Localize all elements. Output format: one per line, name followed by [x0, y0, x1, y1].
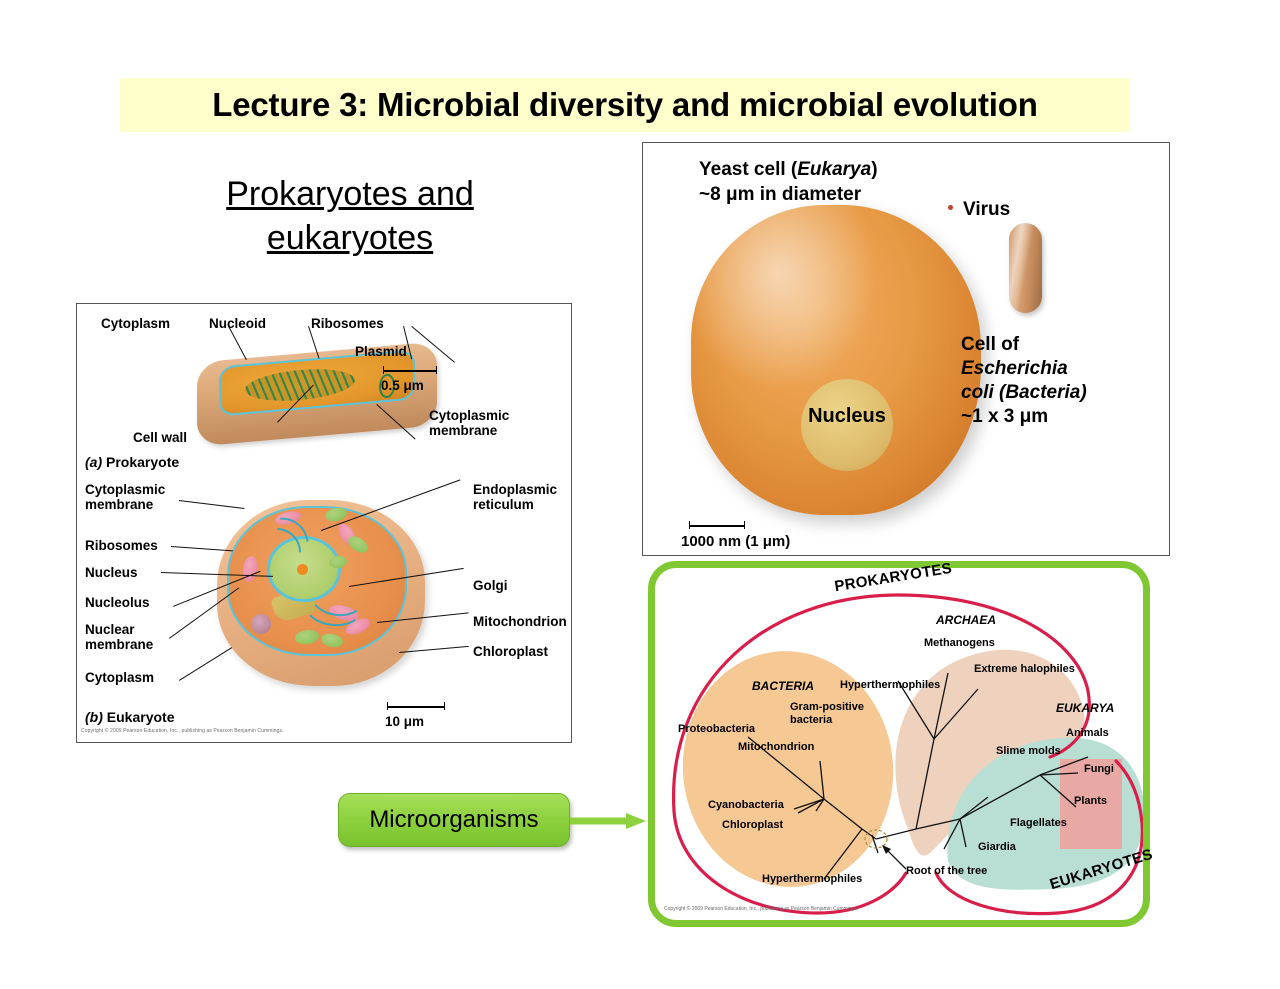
label-hyperthermophiles-archaea: Hyperthermophiles: [840, 679, 940, 692]
section-heading-line2: eukaryotes: [267, 219, 433, 257]
slide-title-banner: Lecture 3: Microbial diversity and micro…: [120, 78, 1130, 132]
label-domain-eukarya: EUKARYA: [1056, 701, 1114, 715]
label-gram-positive-bacteria: Gram-positive bacteria: [790, 701, 864, 726]
label-ecoli: Cell of Escherichia coli (Bacteria) ~1 x…: [961, 333, 1087, 429]
label-virus: Virus: [963, 199, 1010, 221]
label-proteobacteria: Proteobacteria: [678, 723, 755, 736]
label-extreme-halophiles: Extreme halophiles: [974, 663, 1075, 676]
label-nucleoid: Nucleoid: [209, 316, 266, 331]
slide-title: Lecture 3: Microbial diversity and micro…: [212, 86, 1037, 124]
scale-text-prokaryote: 0.5 μm: [381, 378, 424, 393]
label-slime-molds: Slime molds: [996, 745, 1061, 758]
scale-text-eukaryote: 10 μm: [385, 714, 424, 729]
yeast-title-domain: Eukarya: [797, 159, 871, 180]
prokaryote-cell-illustration: [197, 344, 437, 444]
caption-eukaryote: (b) Eukaryote: [85, 709, 174, 725]
yeast-cell-title: Yeast cell (Eukarya) ~8 μm in diameter: [699, 157, 878, 207]
label-flagellates: Flagellates: [1010, 817, 1067, 830]
label-nuclear-membrane: Nuclear membrane: [85, 622, 153, 652]
microorganisms-callout-box[interactable]: Microorganisms: [338, 793, 570, 847]
label-cytoplasm-prokaryote: Cytoplasm: [101, 316, 170, 331]
yeast-title-prefix: Yeast cell (: [699, 159, 797, 180]
label-cytoplasmic-membrane-eukaryote: Cytoplasmic membrane: [85, 482, 165, 512]
yeast-title-suffix: ): [871, 159, 877, 180]
label-root-of-the-tree: Root of the tree: [906, 865, 987, 878]
label-chloroplast-eukaryote: Chloroplast: [473, 644, 548, 659]
yeast-title-size: ~8 μm in diameter: [699, 184, 861, 205]
label-endoplasmic-reticulum: Endoplasmic reticulum: [473, 482, 557, 512]
label-domain-archaea: ARCHAEA: [936, 613, 996, 627]
label-yeast-nucleus: Nucleus: [795, 405, 899, 428]
label-mitochondrion-eukaryote: Mitochondrion: [473, 614, 567, 629]
label-ribosomes-prokaryote: Ribosomes: [311, 316, 384, 331]
microorganisms-arrow-icon: [570, 812, 650, 830]
figure-copyright: Copyright © 2009 Pearson Education, Inc.…: [81, 728, 284, 734]
ecoli-species-name: Escherichia coli (Bacteria): [961, 358, 1087, 403]
label-fungi: Fungi: [1084, 763, 1114, 776]
tree-copyright: Copyright © 2009 Pearson Education, Inc.…: [664, 906, 858, 912]
label-nucleolus: Nucleolus: [85, 595, 150, 610]
ecoli-size: ~1 x 3 μm: [961, 406, 1048, 427]
label-chloroplast-tree: Chloroplast: [722, 819, 783, 832]
universal-phylogenetic-tree-figure: PROKARYOTES EUKARYOTES BACTERIA ARCHAEA …: [648, 561, 1160, 933]
label-cell-wall: Cell wall: [133, 430, 187, 445]
label-ribosomes-eukaryote: Ribosomes: [85, 538, 158, 553]
cell-comparison-figure: Cytoplasm Nucleoid Ribosomes Plasmid Cel…: [76, 303, 572, 743]
label-cytoplasm-eukaryote: Cytoplasm: [85, 670, 154, 685]
label-nucleus-eukaryote: Nucleus: [85, 565, 138, 580]
label-cyanobacteria: Cyanobacteria: [708, 799, 784, 812]
label-plants: Plants: [1074, 795, 1107, 808]
label-hyperthermophiles-bacteria: Hyperthermophiles: [762, 873, 862, 886]
scale-bar-prokaryote: [383, 366, 437, 374]
label-domain-bacteria: BACTERIA: [752, 679, 814, 693]
section-heading-line1: Prokaryotes and: [226, 175, 474, 213]
scale-bar-eukaryote: [387, 702, 445, 710]
label-animals: Animals: [1066, 727, 1109, 740]
ecoli-cell-shape: [1009, 223, 1042, 313]
eukaryote-cell-illustration: [217, 494, 427, 694]
virus-particle-shape: [948, 205, 953, 210]
label-mitochondrion-tree: Mitochondrion: [738, 741, 814, 754]
ecoli-label-line1: Cell of: [961, 334, 1019, 355]
yeast-cell-size-comparison-figure: Yeast cell (Eukarya) ~8 μm in diameter N…: [642, 142, 1170, 556]
label-golgi: Golgi: [473, 578, 508, 593]
label-giardia: Giardia: [978, 841, 1016, 854]
caption-text-prokaryote: Prokaryote: [106, 454, 179, 470]
label-methanogens: Methanogens: [924, 637, 995, 650]
nucleolus-shape: [297, 564, 308, 575]
caption-prefix-b: (b): [85, 709, 103, 725]
scale-bar-yeast: [689, 521, 745, 529]
caption-text-eukaryote: Eukaryote: [107, 709, 175, 725]
vesicle-shape: [251, 614, 271, 634]
caption-prokaryote: (a) Prokaryote: [85, 454, 179, 470]
scale-text-yeast: 1000 nm (1 μm): [681, 533, 790, 550]
label-plasmid: Plasmid: [355, 344, 407, 359]
microorganisms-label: Microorganisms: [369, 806, 538, 834]
caption-prefix-a: (a): [85, 454, 102, 470]
label-cytoplasmic-membrane-prokaryote: Cytoplasmic membrane: [429, 408, 509, 438]
section-heading: Prokaryotes and eukaryotes: [180, 172, 520, 260]
